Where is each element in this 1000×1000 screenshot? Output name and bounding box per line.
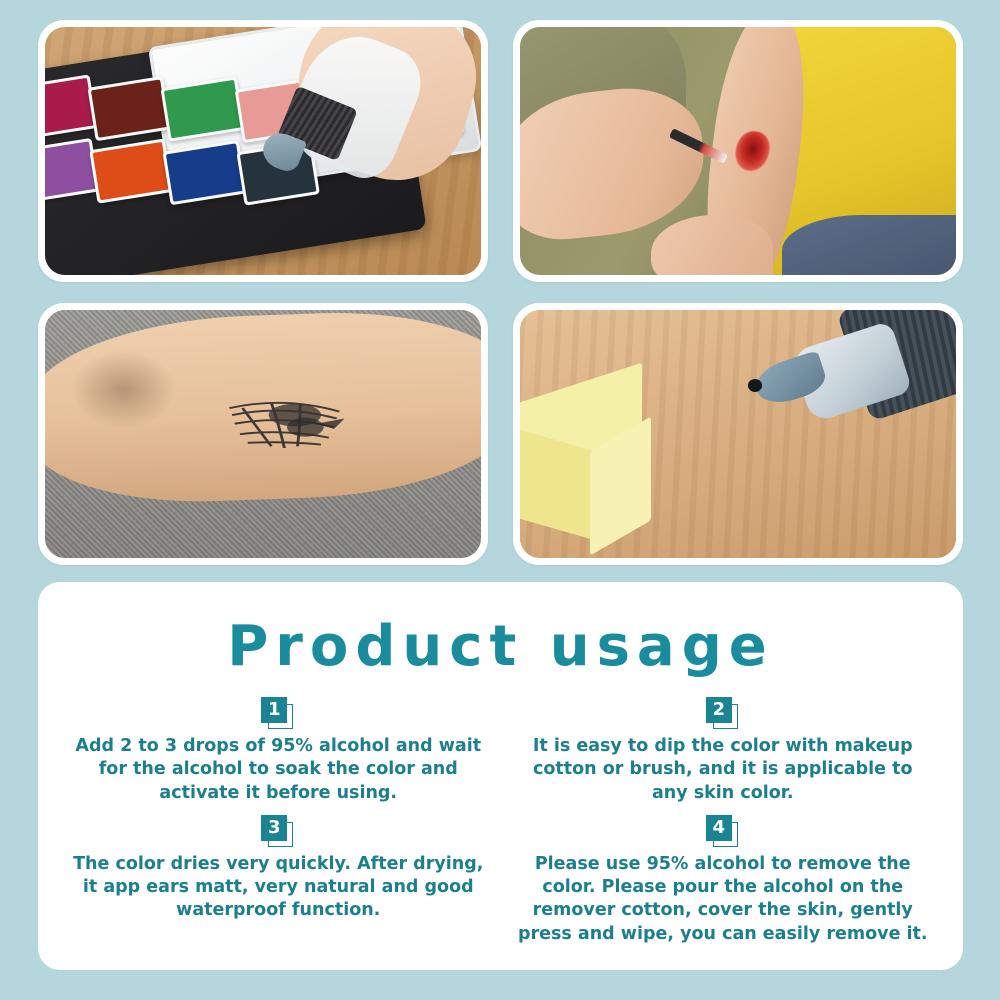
skin-shadow [71,350,176,429]
photo-card-sponge-bottle [513,303,963,565]
badge-number: 2 [706,697,732,723]
usage-step-text: It is easy to dip the color with makeup … [509,735,938,805]
tattoo-design [219,389,350,458]
step-number-badge: 4 [706,815,740,847]
step-number-badge: 3 [261,815,295,847]
step-number-badge: 2 [706,697,740,729]
photo-paint-palette [45,27,481,275]
photo-wound-makeup [520,27,956,275]
usage-step-text: The color dries very quickly. After dryi… [64,853,493,923]
usage-step-2: 2 It is easy to dip the color with makeu… [509,697,938,805]
paint-pan [89,139,173,204]
usage-step-text: Add 2 to 3 drops of 95% alcohol and wait… [64,735,493,805]
product-usage-card: Product usage 1 Add 2 to 3 drops of 95% … [38,582,963,970]
photo-card-paint-palette [38,20,488,282]
usage-step-1: 1 Add 2 to 3 drops of 95% alcohol and wa… [64,697,493,805]
step-number-badge: 1 [261,697,295,729]
paint-pan [161,77,245,142]
paint-pan [163,140,247,205]
badge-number: 1 [261,697,287,723]
photo-grid [38,20,963,565]
photo-tattoo-leg [45,310,481,558]
background-jeans [782,215,956,275]
paint-pan [45,138,100,203]
supporting-hand [651,215,773,275]
photo-card-tattoo-leg [38,303,488,565]
usage-step-4: 4 Please use 95% alcohol to remove the c… [509,815,938,946]
usage-step-3: 3 The color dries very quickly. After dr… [64,815,493,946]
page-title: Product usage [38,614,963,679]
dropper-nozzle-hole [748,379,762,391]
photo-card-wound-makeup [513,20,963,282]
badge-number: 4 [706,815,732,841]
usage-step-text: Please use 95% alcohol to remove the col… [509,853,938,946]
paint-pan [88,76,172,141]
photo-sponge-bottle [520,310,956,558]
badge-number: 3 [261,815,287,841]
usage-steps: 1 Add 2 to 3 drops of 95% alcohol and wa… [38,697,963,946]
